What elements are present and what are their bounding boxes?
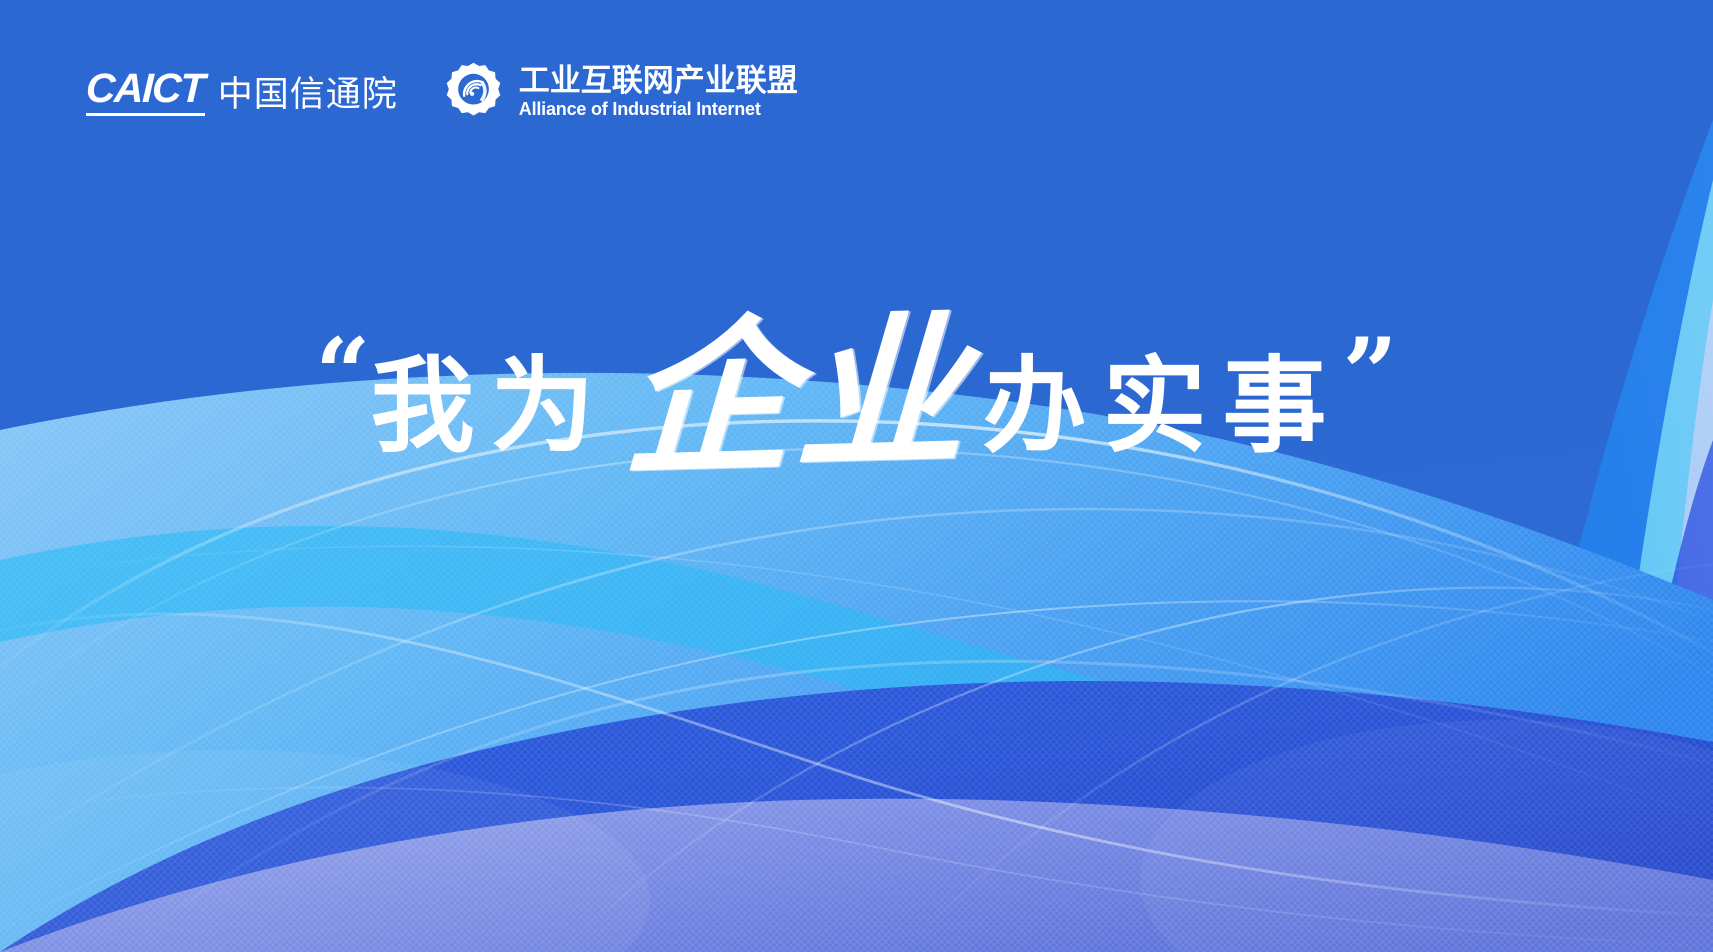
headline-slogan: “ 我为 企业 办实事 ” xyxy=(0,300,1713,500)
caict-wordmark-text: CAICT xyxy=(85,68,204,109)
logo-caict: CAICT 中国信通院 xyxy=(86,68,398,116)
logo-bar: CAICT 中国信通院 xyxy=(86,60,798,123)
headline-open-quote: “ xyxy=(315,326,370,422)
caict-underline-rule xyxy=(86,113,205,116)
aii-chinese-name: 工业互联网产业联盟 xyxy=(519,66,798,97)
headline-segment-brush: 企业 xyxy=(621,308,973,485)
poster-canvas: CAICT 中国信通院 xyxy=(0,0,1713,952)
cyan-ribbon xyxy=(0,526,1713,880)
logo-alliance-of-industrial-internet: 工业互联网产业联盟 Alliance of Industrial Interne… xyxy=(442,60,798,123)
headline-close-quote: ” xyxy=(1343,326,1398,422)
headline-segment-left: 我为 xyxy=(370,354,610,458)
caict-chinese-name: 中国信通院 xyxy=(218,78,398,116)
light-strands xyxy=(0,421,1713,952)
aii-text-block: 工业互联网产业联盟 Alliance of Industrial Interne… xyxy=(519,66,798,118)
aii-english-name: Alliance of Industrial Internet xyxy=(519,100,798,118)
caict-wordmark: CAICT xyxy=(86,68,204,116)
deep-blue-mesh-band xyxy=(0,620,1713,952)
headline-segment-right: 办实事 xyxy=(983,354,1343,458)
lavender-mesh-band xyxy=(0,760,1713,952)
gear-wifi-icon xyxy=(442,60,505,123)
